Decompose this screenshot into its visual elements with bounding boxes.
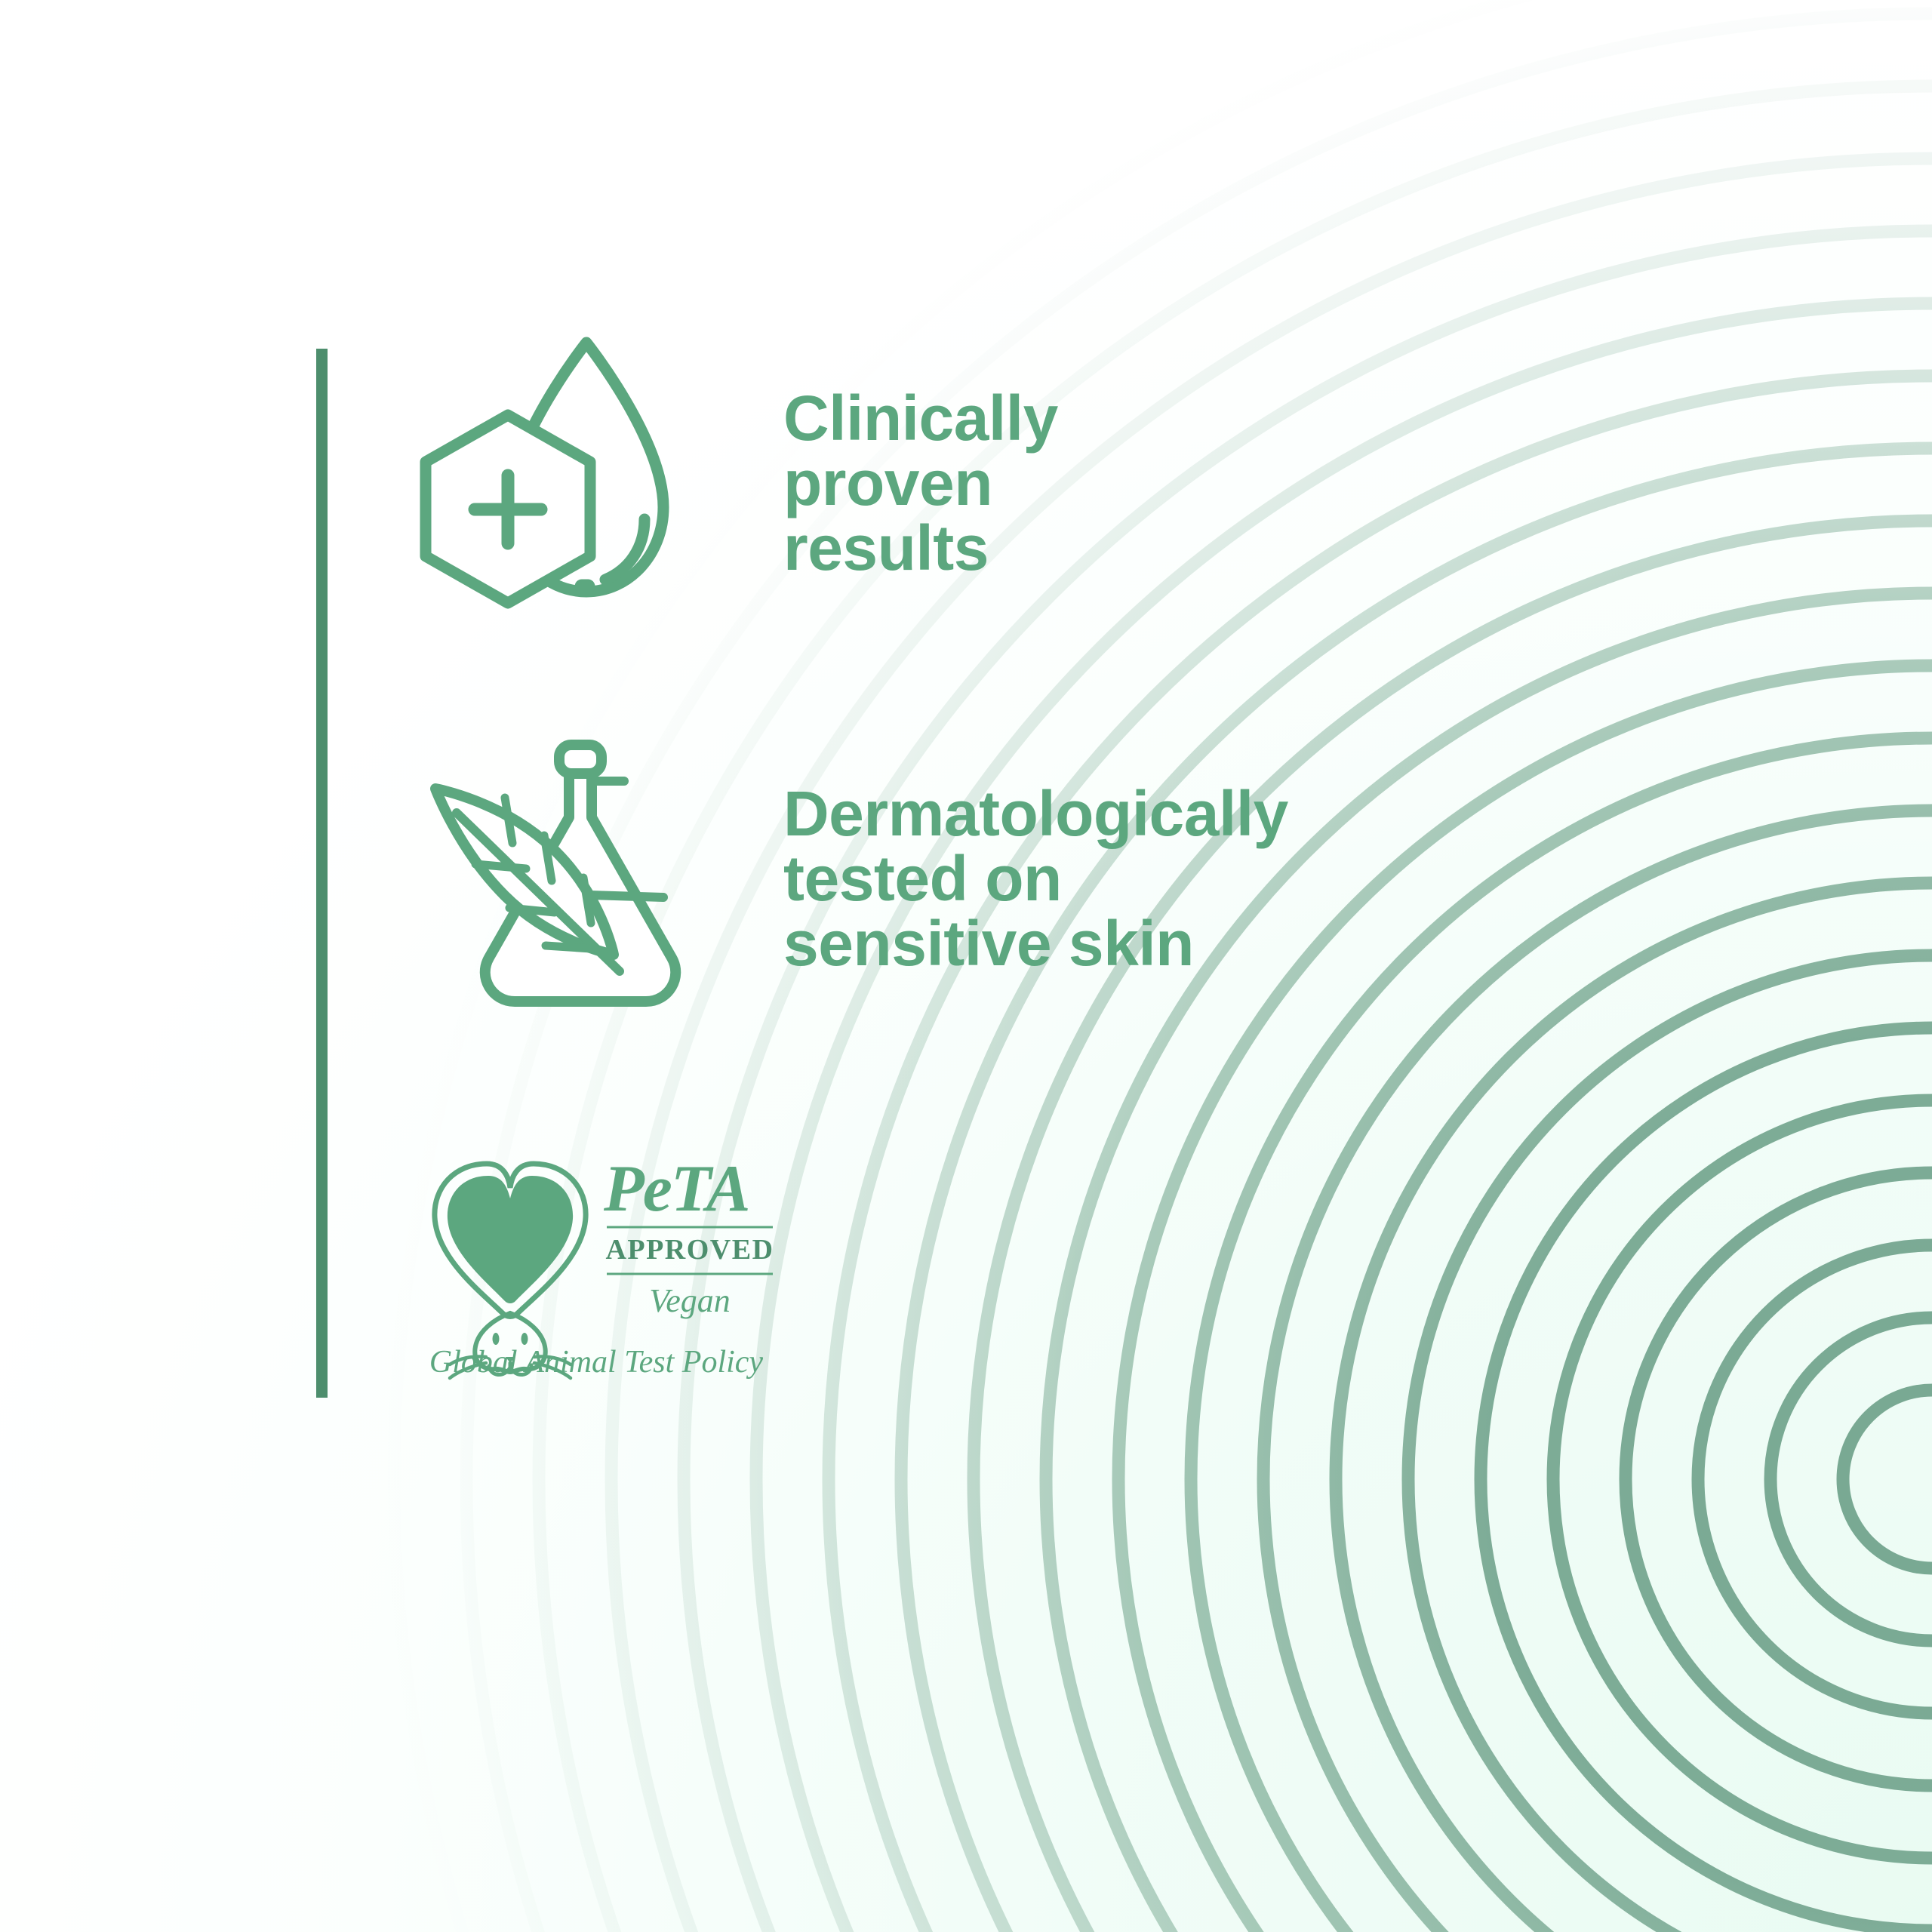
- peta-approved-vegan-badge: PeTA APPROVED Vegan Global Animal Test P…: [417, 1141, 779, 1398]
- flask-leaf-icon: [411, 728, 721, 1030]
- droplet-hexagon-plus-icon: [411, 326, 709, 641]
- peta-brand-text: PeTA: [603, 1152, 749, 1226]
- feature-row-dermatologically-tested: Dermatologically tested on sensitive ski…: [411, 728, 1288, 1030]
- peta-vegan-text: Vegan: [649, 1282, 731, 1319]
- feature-row-clinically-proven: Clinically proven results: [411, 326, 1058, 641]
- feature-label-dermatologically-tested: Dermatologically tested on sensitive ski…: [783, 782, 1288, 976]
- peta-policy-text: Global Animal Test Policy: [429, 1345, 764, 1380]
- peta-approved-text: APPROVED: [605, 1234, 774, 1266]
- vertical-divider: [316, 349, 328, 1398]
- feature-label-clinically-proven: Clinically proven results: [783, 386, 1058, 580]
- promo-panel: Clinically proven results: [0, 0, 1932, 1932]
